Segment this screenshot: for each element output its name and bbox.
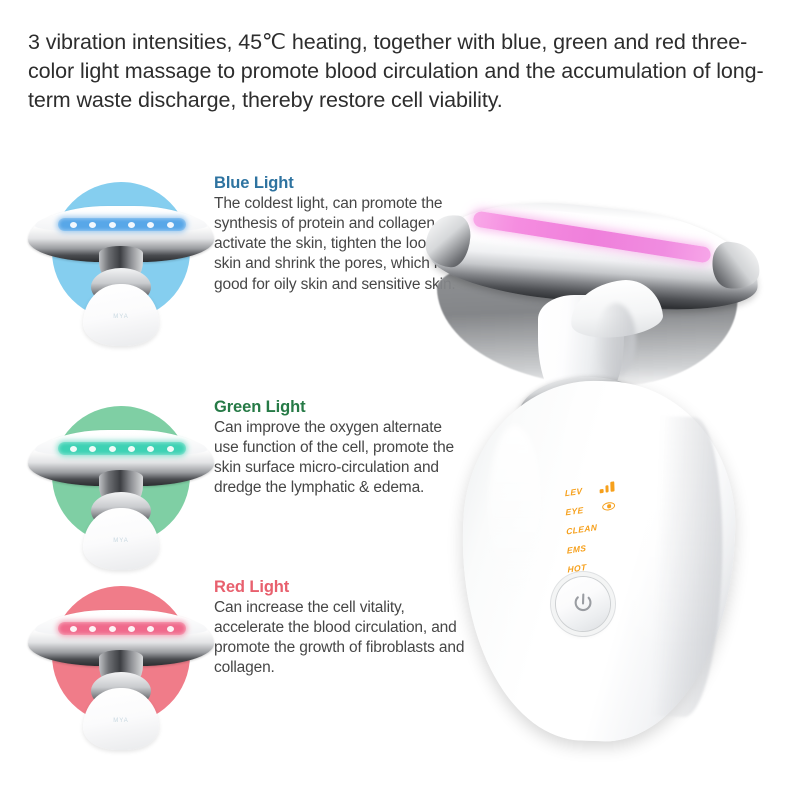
device-handle-edge-shading	[651, 416, 727, 718]
mini-device-green: MYA	[28, 430, 214, 570]
control-label-lev: LEV	[565, 483, 599, 498]
page-description: 3 vibration intensities, 45℃ heating, to…	[28, 28, 776, 115]
eye-icon	[602, 501, 615, 511]
feature-green-light: MYA Green Light Can improve the oxygen a…	[24, 392, 484, 570]
mini-led-strip-red	[58, 622, 186, 635]
mini-led-strip-blue	[58, 218, 186, 231]
mini-device-red: MYA	[28, 610, 214, 750]
control-label-ems: EMS	[567, 540, 601, 555]
power-icon	[570, 591, 597, 618]
feature-red-light: MYA Red Light Can increase the cell vita…	[24, 572, 484, 750]
mini-device-blue: MYA	[28, 206, 214, 346]
control-panel: LEV EYE CLEAN EMS HOT	[565, 477, 618, 579]
control-label-clean: CLEAN	[566, 521, 600, 536]
device-handle-highlight	[488, 425, 542, 595]
thumbnail-red-light: MYA	[24, 572, 214, 750]
level-bars-icon	[599, 481, 614, 493]
brand-mark: MYA	[113, 314, 129, 320]
thumbnail-green-light: MYA	[24, 392, 214, 570]
device-neck-shading	[596, 303, 636, 377]
brand-mark: MYA	[113, 538, 129, 544]
feature-blue-light: MYA Blue Light The coldest light, can pr…	[24, 168, 484, 346]
brand-mark: MYA	[113, 718, 129, 724]
thumbnail-blue-light: MYA	[24, 168, 214, 346]
control-label-eye: EYE	[565, 502, 599, 517]
mini-led-strip-green	[58, 442, 186, 455]
control-label-hot: HOT	[567, 559, 601, 574]
product-image: LEV EYE CLEAN EMS HOT	[420, 185, 785, 750]
